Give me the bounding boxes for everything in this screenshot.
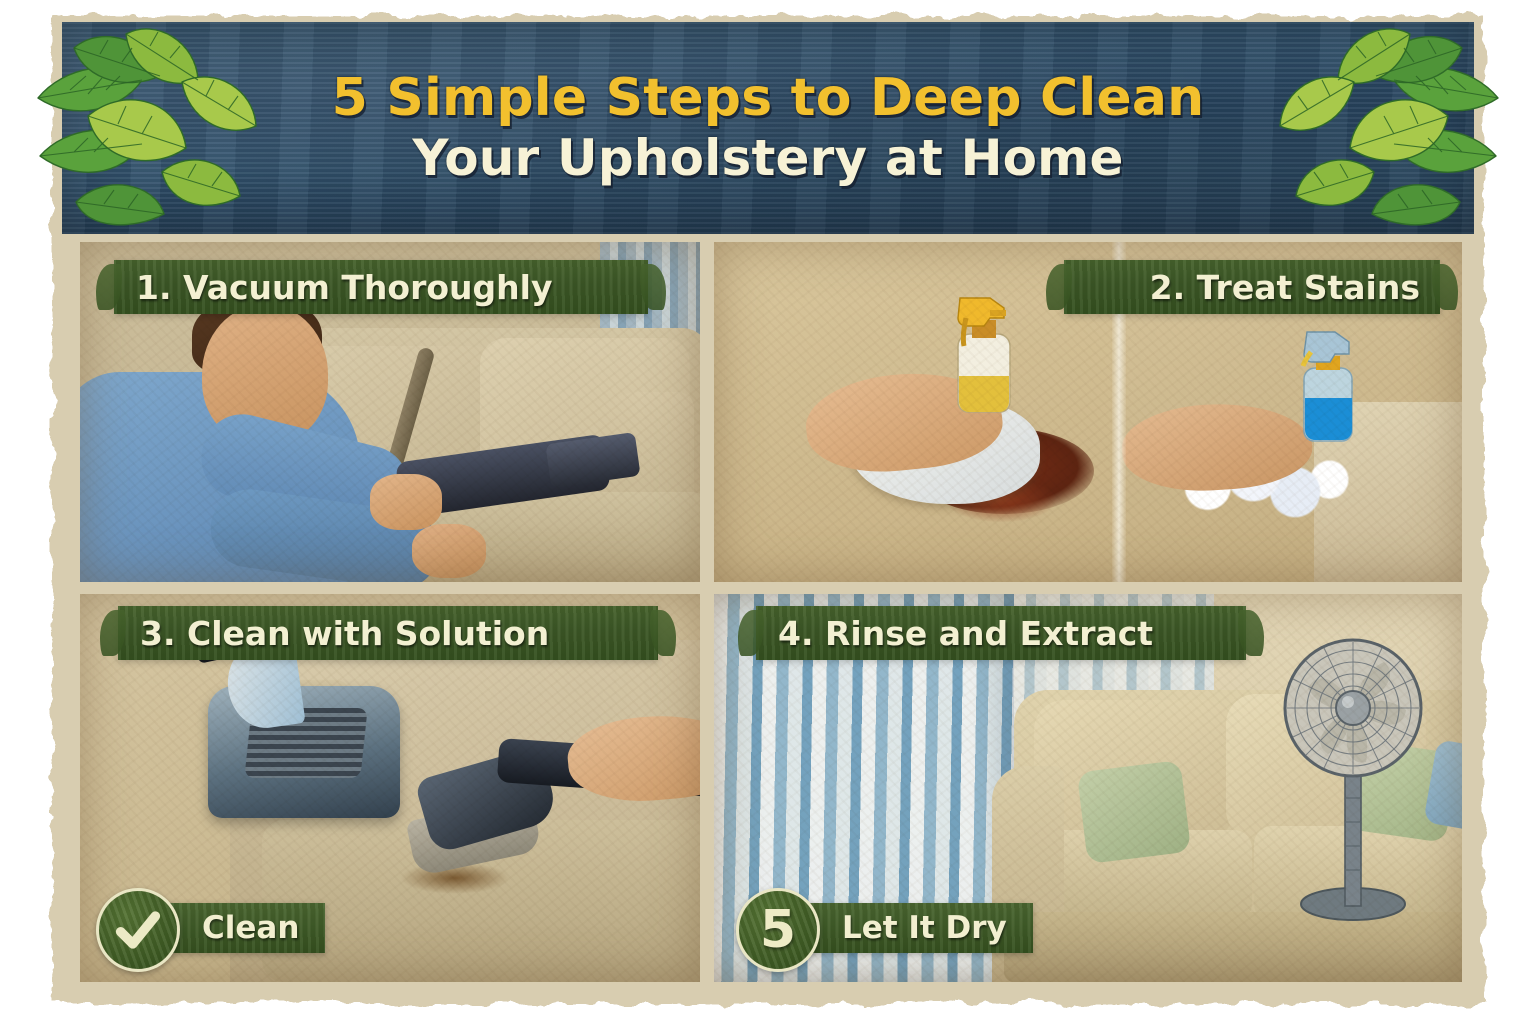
step-1-label: 1. Vacuum Thoroughly: [136, 268, 552, 307]
clean-badge-label: Clean: [202, 910, 299, 946]
number-badge-icon: 5: [736, 888, 820, 972]
let-it-dry-badge-row: Let It Dry 5: [736, 888, 1126, 968]
infographic-poster: 5 Simple Steps to Deep Clean Your Uphols…: [0, 0, 1536, 1024]
step-3-label: 3. Clean with Solution: [140, 614, 549, 653]
p1-person-hand-upper: [370, 474, 442, 530]
step-panel-2[interactable]: 2. Treat Stains: [714, 242, 1462, 582]
spray-bottle-yellow-icon: [950, 290, 1018, 416]
leaf-cluster-icon-right: [1256, 6, 1506, 236]
step-3-banner: 3. Clean with Solution: [118, 606, 658, 660]
step-5-number: 5: [760, 904, 796, 956]
step-2-label: 2. Treat Stains: [1150, 268, 1420, 307]
steps-grid: 1. Vacuum Thoroughly: [62, 236, 1474, 988]
spray-bottle-blue-icon: [1299, 326, 1361, 444]
step-4-banner: 4. Rinse and Extract: [756, 606, 1246, 660]
leaf-cluster-icon-left: [30, 6, 280, 236]
step-panel-3[interactable]: 3. Clean with Solution Clean: [80, 594, 700, 982]
step-1-banner: 1. Vacuum Thoroughly: [114, 260, 648, 314]
clean-badge-row: Clean: [96, 888, 436, 968]
step-panel-4[interactable]: 4. Rinse and Extract Let It Dry 5: [714, 594, 1462, 982]
step-2-banner: 2. Treat Stains: [1064, 260, 1440, 314]
pedestal-fan-icon: [1278, 632, 1428, 932]
p1-person-hand-lower: [412, 524, 486, 578]
title-line-2: Your Upholstery at Home: [412, 132, 1123, 185]
let-it-dry-badge-label: Let It Dry: [842, 910, 1007, 946]
title-line-1: 5 Simple Steps to Deep Clean: [332, 71, 1205, 126]
step-4-label: 4. Rinse and Extract: [778, 614, 1153, 653]
check-mark-icon: [96, 888, 180, 972]
p4-cushion-green-left: [1077, 760, 1191, 864]
step-panel-1[interactable]: 1. Vacuum Thoroughly: [80, 242, 700, 582]
